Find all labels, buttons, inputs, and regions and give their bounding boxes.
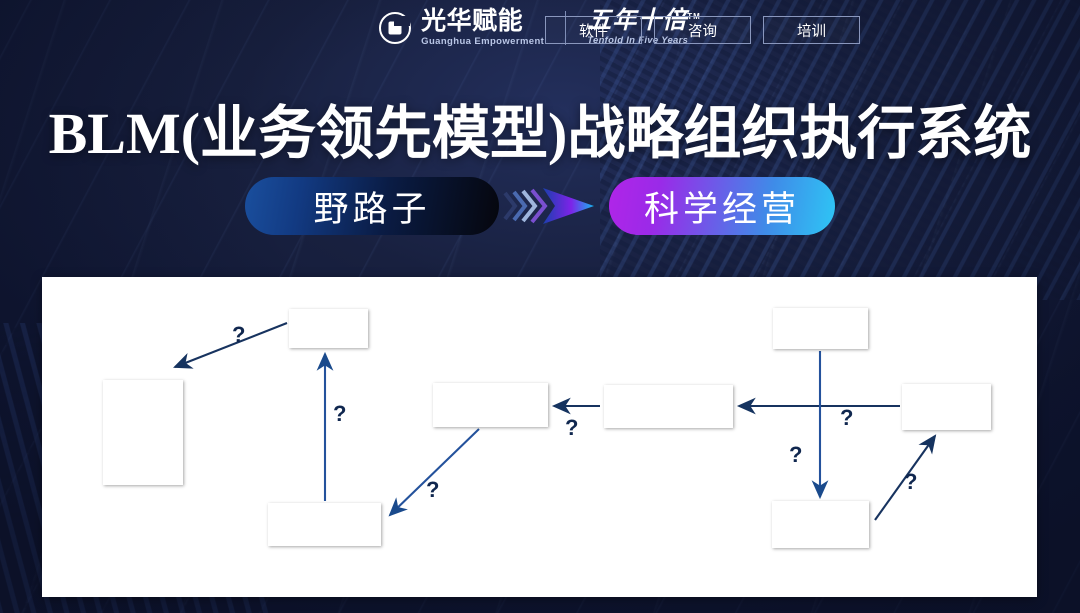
- page-title: BLM(业务领先模型)战略组织执行系统: [0, 86, 1080, 170]
- node-talent[interactable]: 人才: [772, 501, 869, 548]
- edge-marker-keytask-design: ?: [565, 415, 578, 441]
- edge-marker-market-mission: ?: [232, 322, 245, 348]
- pill-before-state: 野路子: [245, 177, 499, 235]
- edge-marker-design-growth: ?: [426, 477, 439, 503]
- edge-market-mission: [175, 323, 287, 367]
- node-growth-path[interactable]: 增长路径: [268, 503, 381, 546]
- brand-name-cn: 光华赋能: [421, 9, 544, 34]
- blm-diagram: 市场 使命 愿景 目标 增长路径 业务设计 关键任务 文化 人才 组织 ? ? …: [42, 277, 1037, 597]
- chevrons-right-arrow-icon: [499, 177, 609, 235]
- edge-marker-culture-talent: ?: [789, 442, 802, 468]
- edge-marker-talent-org: ?: [904, 469, 917, 495]
- node-line-3: 目标: [123, 444, 163, 467]
- brand-name-block: 光华赋能 Guanghua Empowerment: [421, 9, 544, 47]
- node-line-2: 愿景: [123, 421, 163, 444]
- node-mission-vision-goal[interactable]: 使命 愿景 目标: [103, 380, 183, 485]
- arrow-svg: [499, 177, 609, 235]
- pill-after-state: 科学经营: [609, 177, 835, 235]
- slide-root: 光华赋能 Guanghua Empowerment 五年十倍TM Tenfold…: [0, 0, 1080, 613]
- node-culture[interactable]: 文化: [773, 308, 868, 349]
- nav-button-software[interactable]: 软件: [545, 16, 642, 44]
- brand-name-en: Guanghua Empowerment: [421, 37, 544, 47]
- edge-marker-org-keytask: ?: [840, 405, 853, 431]
- node-business-design[interactable]: 业务设计: [433, 383, 548, 427]
- edge-marker-growth-market: ?: [333, 401, 346, 427]
- transition-banner: 野路子 科学经营: [0, 176, 1080, 236]
- nav-button-group: 软件 咨询 培训: [545, 16, 860, 44]
- node-organization[interactable]: 组织: [902, 384, 991, 430]
- node-line-1: 使命: [123, 398, 163, 421]
- node-key-tasks[interactable]: 关键任务: [604, 385, 733, 428]
- nav-button-training[interactable]: 培训: [763, 16, 860, 44]
- nav-button-consulting[interactable]: 咨询: [654, 16, 751, 44]
- circle-g-logo-icon: [379, 12, 411, 44]
- diagram-links: [42, 277, 1037, 597]
- header-bar: 光华赋能 Guanghua Empowerment 五年十倍TM Tenfold…: [0, 0, 1080, 55]
- node-market[interactable]: 市场: [289, 309, 368, 348]
- diagram-panel: 市场 使命 愿景 目标 增长路径 业务设计 关键任务 文化 人才 组织 ? ? …: [42, 277, 1037, 597]
